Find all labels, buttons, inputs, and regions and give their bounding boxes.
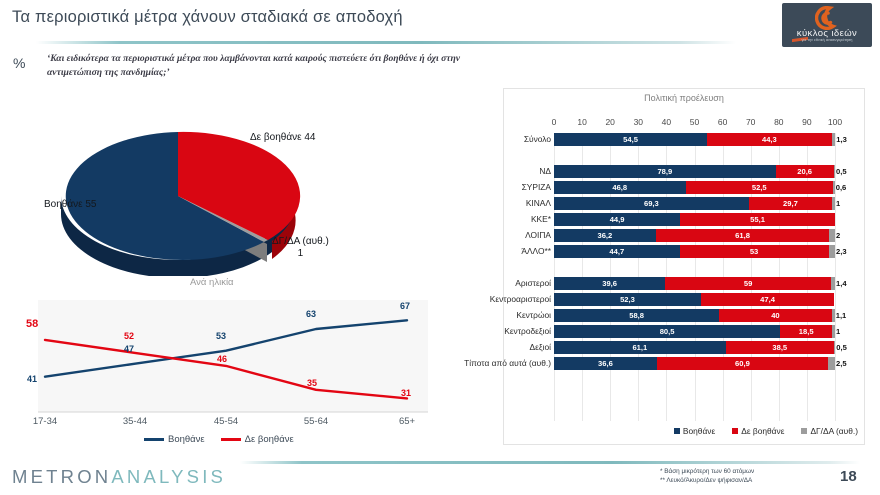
bar-row-label: Τίποτα από αυτά (αυθ.): [464, 357, 551, 370]
line-value-nohelp-45-54: 46: [217, 354, 227, 364]
bar-row-label: Σύνολο: [524, 133, 551, 146]
bar-value-label: 78,9: [554, 165, 776, 178]
bar-row: Αριστεροί39,6591,4: [554, 277, 835, 290]
bar-chart-title: Πολιτική προέλευση: [504, 93, 864, 103]
bar-swatch-help: [674, 428, 680, 434]
bar-value-label: 36,2: [554, 229, 656, 242]
bar-value-label: 2: [836, 229, 840, 242]
bar-value-label: 39,6: [554, 277, 665, 290]
bar-legend-label-nohelp: Δε βοηθάνε: [741, 426, 784, 436]
bar-segment-ΔΓ/ΔΑ (αυθ.): [832, 309, 835, 322]
bar-row-label: ΣΥΡΙΖΑ: [522, 181, 551, 194]
bar-value-label: 2,5: [836, 357, 847, 370]
line-value-help-17-34: 41: [27, 374, 37, 384]
bar-value-label: 47,4: [701, 293, 834, 306]
bar-row-label: Αριστεροί: [515, 277, 551, 290]
footer-divider: [240, 461, 860, 464]
pie-chart: Βοηθάνε 55 Δε βοηθάνε 44 ΔΓ/ΔΑ (αυθ.) 1: [28, 96, 448, 276]
bar-row: ΣΥΡΙΖΑ46,852,50,6: [554, 181, 835, 194]
line-legend-label-help: Βοηθάνε: [168, 434, 205, 445]
bar-row-label: Κεντρώοι: [516, 309, 551, 322]
bar-segment-ΔΓ/ΔΑ (αυθ.): [833, 181, 835, 194]
bar-xtick-100: 100: [828, 117, 842, 127]
bar-row-label: Δεξιοί: [530, 341, 551, 354]
bar-legend-item-dk: ΔΓ/ΔΑ (αυθ.): [801, 426, 858, 436]
pie-label-dk-value: 1: [298, 248, 304, 259]
line-xtick-55-64: 55-64: [304, 416, 328, 427]
bar-row: ΚΙΝΑΛ69,329,71: [554, 197, 835, 210]
bar-xtick-50: 50: [690, 117, 699, 127]
bar-value-label: 0,6: [836, 181, 847, 194]
line-chart-caption: Ανά ηλικία: [190, 277, 234, 288]
bar-value-label: 20,6: [776, 165, 834, 178]
line-swatch-nohelp: [221, 438, 241, 441]
bar-value-label: 60,9: [657, 357, 828, 370]
line-chart-legend: Βοηθάνε Δε βοηθάνε: [144, 434, 294, 445]
bar-value-label: 44,9: [554, 213, 680, 226]
bar-value-label: 1,1: [836, 309, 847, 322]
bar-row: Κεντροαριστεροί52,347,4: [554, 293, 835, 306]
bar-segment-ΔΓ/ΔΑ (αυθ.): [831, 277, 835, 290]
bar-row-label: ΆΛΛΟ**: [521, 245, 551, 258]
line-chart-graphic: [14, 296, 444, 426]
bar-segment-ΔΓ/ΔΑ (αυθ.): [834, 165, 835, 178]
bar-value-label: 54,5: [554, 133, 707, 146]
bar-segment-ΔΓ/ΔΑ (αυθ.): [832, 325, 835, 338]
bar-segment-ΔΓ/ΔΑ (αυθ.): [832, 197, 835, 210]
bar-value-label: 52,3: [554, 293, 701, 306]
line-xtick-65plus: 65+: [399, 416, 415, 427]
line-xtick-45-54: 45-54: [214, 416, 238, 427]
bar-value-label: 46,8: [554, 181, 686, 194]
bar-value-label: 59: [665, 277, 831, 290]
bar-row-label: ΚΙΝΑΛ: [526, 197, 551, 210]
bar-legend-label-help: Βοηθάνε: [683, 426, 715, 436]
line-legend-item-nohelp: Δε βοηθάνε: [221, 434, 294, 445]
bar-segment-ΔΓ/ΔΑ (αυθ.): [828, 357, 835, 370]
bar-xtick-80: 80: [774, 117, 783, 127]
line-value-help-45-54: 53: [216, 331, 226, 341]
footnote-base-size: * Βάση μικρότερη των 60 ατόμων: [660, 468, 754, 475]
pie-label-dk: ΔΓ/ΔΑ (αυθ.) 1: [272, 236, 329, 260]
bar-segment-ΔΓ/ΔΑ (αυθ.): [829, 245, 835, 258]
bar-row-label: Κεντροδεξιοί: [504, 325, 551, 338]
line-value-nohelp-35-44: 52: [124, 331, 134, 341]
line-swatch-help: [144, 438, 164, 441]
bar-row: ΛΟΙΠΑ36,261,82: [554, 229, 835, 242]
bar-value-label: 53: [680, 245, 829, 258]
bar-xtick-40: 40: [662, 117, 671, 127]
page-number: 18: [840, 468, 857, 485]
bar-row: ΆΛΛΟ**44,7532,3: [554, 245, 835, 258]
line-value-nohelp-65plus: 31: [401, 388, 411, 398]
bar-value-label: 44,3: [707, 133, 831, 146]
bar-row-label: ΝΔ: [539, 165, 551, 178]
pie-label-nohelp: Δε βοηθάνε 44: [250, 132, 316, 143]
metron-analysis-logo: METRONANALYSIS: [12, 466, 226, 488]
line-value-help-65plus: 67: [400, 301, 410, 311]
question-text: ‘Και ειδικότερα τα περιοριστικά μέτρα πο…: [47, 52, 477, 80]
bar-value-label: 55,1: [680, 213, 835, 226]
line-chart: 41 47 53 63 67 58 52 46 35 31 17-34 35-4…: [14, 296, 444, 446]
bar-value-label: 18,5: [780, 325, 832, 338]
bar-segment-ΔΓ/ΔΑ (αυθ.): [834, 341, 835, 354]
bar-legend-label-dk: ΔΓ/ΔΑ (αυθ.): [810, 426, 858, 436]
bar-value-label: 40: [719, 309, 831, 322]
bar-value-label: 61,1: [554, 341, 726, 354]
bar-value-label: 52,5: [686, 181, 834, 194]
bar-row-label: ΚΚΕ*: [531, 213, 551, 226]
bar-chart-panel: Πολιτική προέλευση 010203040506070809010…: [503, 88, 865, 445]
bar-value-label: 1,3: [836, 133, 847, 146]
bar-xtick-0: 0: [552, 117, 557, 127]
line-value-help-35-44: 47: [124, 344, 134, 354]
bar-legend-item-help: Βοηθάνε: [674, 426, 715, 436]
line-legend-label-nohelp: Δε βοηθάνε: [245, 434, 294, 445]
bar-xtick-60: 60: [718, 117, 727, 127]
bar-row: Δεξιοί61,138,50,5: [554, 341, 835, 354]
bar-value-label: 69,3: [554, 197, 749, 210]
bar-value-label: 38,5: [726, 341, 834, 354]
bar-row-label: Κεντροαριστεροί: [490, 293, 551, 306]
bar-legend-item-nohelp: Δε βοηθάνε: [732, 426, 784, 436]
line-value-nohelp-55-64: 35: [307, 378, 317, 388]
bar-value-label: 1: [836, 325, 840, 338]
circle-swirl-icon: [815, 6, 839, 30]
bar-value-label: 1: [836, 197, 840, 210]
bar-chart-x-axis: 0102030405060708090100: [504, 117, 866, 131]
bar-row: ΚΚΕ*44,955,1: [554, 213, 835, 226]
bar-value-label: 58,8: [554, 309, 719, 322]
bar-xtick-10: 10: [577, 117, 586, 127]
slide-canvas: Τα περιοριστικά μέτρα χάνουν σταδιακά σε…: [0, 0, 880, 495]
bar-value-label: 29,7: [749, 197, 832, 210]
bar-segment-ΔΓ/ΔΑ (αυθ.): [832, 133, 836, 146]
bar-row: Τίποτα από αυτά (αυθ.)36,660,92,5: [554, 357, 835, 370]
footnote-blank-invalid: ** Λευκό/Άκυρο/Δεν ψήφισαν/ΔΑ: [660, 477, 752, 484]
bar-row: Σύνολο54,544,31,3: [554, 133, 835, 146]
bar-chart-plot-area: Σύνολο54,544,31,3ΝΔ78,920,60,5ΣΥΡΙΖΑ46,8…: [554, 133, 835, 421]
pie-label-dk-text: ΔΓ/ΔΑ (αυθ.): [272, 236, 329, 247]
line-value-nohelp-17-34: 58: [26, 318, 38, 330]
bar-chart-legend: Βοηθάνε Δε βοηθάνε ΔΓ/ΔΑ (αυθ.): [504, 426, 858, 436]
bar-xtick-30: 30: [634, 117, 643, 127]
title-divider: [36, 41, 736, 44]
page-title: Τα περιοριστικά μέτρα χάνουν σταδιακά σε…: [12, 8, 403, 27]
kyklos-ideon-logo: κύκλος ιδεών για την εθνική ανασυγκρότησ…: [782, 3, 872, 47]
bar-row: Κεντρώοι58,8401,1: [554, 309, 835, 322]
bar-row: ΝΔ78,920,60,5: [554, 165, 835, 178]
bar-xtick-20: 20: [605, 117, 614, 127]
bar-value-label: 1,4: [836, 277, 847, 290]
bar-value-label: 2,3: [836, 245, 847, 258]
percent-unit-label: %: [13, 55, 25, 71]
bar-value-label: 36,6: [554, 357, 657, 370]
line-xtick-35-44: 35-44: [123, 416, 147, 427]
bar-swatch-nohelp: [732, 428, 738, 434]
bar-value-label: 0,5: [836, 165, 847, 178]
bar-value-label: 0,5: [836, 341, 847, 354]
bar-value-label: 44,7: [554, 245, 680, 258]
pie-label-help: Βοηθάνε 55: [44, 199, 97, 210]
bar-value-label: 61,8: [656, 229, 830, 242]
line-xtick-17-34: 17-34: [33, 416, 57, 427]
line-value-help-55-64: 63: [306, 309, 316, 319]
bar-row: Κεντροδεξιοί80,518,51: [554, 325, 835, 338]
bar-row-label: ΛΟΙΠΑ: [525, 229, 551, 242]
bar-xtick-70: 70: [746, 117, 755, 127]
line-legend-item-help: Βοηθάνε: [144, 434, 205, 445]
bar-xtick-90: 90: [802, 117, 811, 127]
metron-logo-part2: ANALYSIS: [111, 466, 226, 487]
metron-logo-part1: METRON: [12, 466, 111, 487]
kyklos-ideon-tagline: για την εθνική ανασυγκρότηση: [782, 38, 872, 42]
bar-value-label: 80,5: [554, 325, 780, 338]
bar-swatch-dk: [801, 428, 807, 434]
bar-segment-ΔΓ/ΔΑ (αυθ.): [829, 229, 835, 242]
